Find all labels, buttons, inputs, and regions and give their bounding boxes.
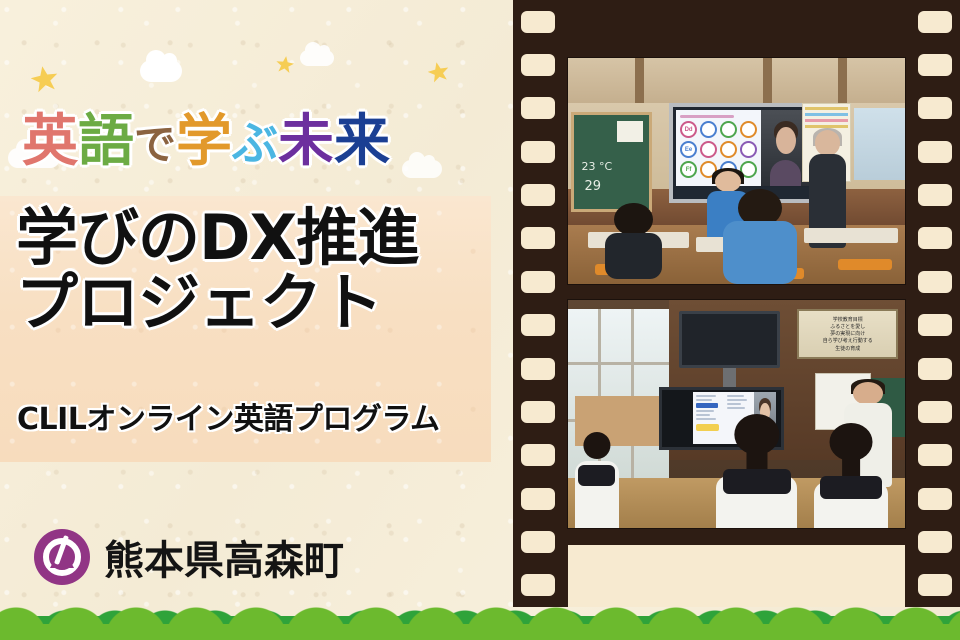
film-perforation [521, 531, 555, 553]
film-perforation [521, 97, 555, 119]
cloud-icon [140, 60, 182, 82]
student-figure [716, 414, 797, 528]
banner-line-2: ふるさとを愛し [830, 324, 865, 330]
film-perforation [918, 227, 952, 249]
film-perforation [521, 444, 555, 466]
takamori-town-emblem-icon [34, 529, 90, 585]
film-perforation [918, 531, 952, 553]
page-title: 学びのDX推進 プロジェクト [16, 206, 494, 334]
film-perforation [918, 97, 952, 119]
chalkboard: 23 °C 29 [571, 112, 652, 211]
page-subtitle: CLILオンライン英語プログラム [17, 394, 495, 438]
film-perforation [521, 11, 555, 33]
film-perforation [918, 271, 952, 293]
headline-char-7: 来 [334, 114, 390, 170]
organization-row: 熊本県高森町 [34, 528, 344, 586]
organization-name: 熊本県高森町 [104, 528, 344, 586]
title-line-2: プロジェクト [16, 271, 494, 334]
film-perforation [521, 141, 555, 163]
chalkboard-temp: 23 °C [581, 160, 612, 173]
film-perforation [521, 184, 555, 206]
student-seated-right [723, 189, 797, 284]
film-perforation [918, 314, 952, 336]
headline-char-2: 語 [78, 114, 134, 170]
film-perforation [918, 358, 952, 380]
student-figure [814, 423, 888, 528]
film-perforation [918, 444, 952, 466]
colored-headline: 英 語 で 学 ぶ 未 来 [22, 90, 492, 170]
headline-char-3: で [134, 124, 176, 170]
film-perforation [521, 227, 555, 249]
perforation-column-left [521, 0, 555, 607]
headline-char-1: 英 [22, 114, 78, 170]
student-figure [575, 432, 619, 528]
poster-canvas: 英 語 で 学 ぶ 未 来 学びのDX推進 プロジェクト CLILオンライン英語… [0, 0, 960, 640]
student-seated-left [605, 203, 662, 280]
film-perforation [521, 488, 555, 510]
star-icon [275, 55, 295, 74]
film-strip: 23 °C 29 Dd Ee [513, 0, 960, 607]
film-perforation [918, 141, 952, 163]
film-perforation [521, 54, 555, 76]
headline-char-4: 学 [176, 114, 232, 170]
chalkboard-number: 29 [584, 179, 601, 194]
banner-line-4: 自ら学び考え行動する [823, 338, 873, 344]
film-perforation [918, 401, 952, 423]
perforation-column-right [918, 0, 952, 607]
film-perforation [918, 54, 952, 76]
title-line-1: 学びのDX推進 [16, 206, 494, 269]
film-perforation [521, 314, 555, 336]
banner-line-1: 学校教育目標 [833, 317, 863, 323]
left-content-panel: 英 語 で 学 ぶ 未 来 学びのDX推進 プロジェクト CLILオンライン英語… [0, 0, 513, 640]
headline-char-5: ぶ [232, 120, 278, 170]
banner-line-3: 夢の実現に向け [830, 331, 865, 337]
star-icon [426, 60, 451, 84]
film-perforation [918, 488, 952, 510]
film-perforation [521, 358, 555, 380]
film-perforation [918, 11, 952, 33]
film-perforation [521, 271, 555, 293]
photo-elementary-classroom: 23 °C 29 Dd Ee [568, 58, 905, 284]
school-goal-banner: 学校教育目標 ふるさとを愛し 夢の実現に向け 自ら学び考え行動する 生徒の育成 [797, 309, 898, 359]
cloud-icon [300, 50, 334, 66]
headline-char-6: 未 [278, 114, 334, 170]
green-hills-decoration [0, 582, 960, 640]
wall-mounted-tv [679, 311, 780, 368]
banner-line-5: 生徒の育成 [835, 346, 860, 352]
photo-junior-high-classroom: 学校教育目標 ふるさとを愛し 夢の実現に向け 自ら学び考え行動する 生徒の育成 [568, 300, 905, 528]
film-perforation [521, 401, 555, 423]
film-perforation [918, 184, 952, 206]
